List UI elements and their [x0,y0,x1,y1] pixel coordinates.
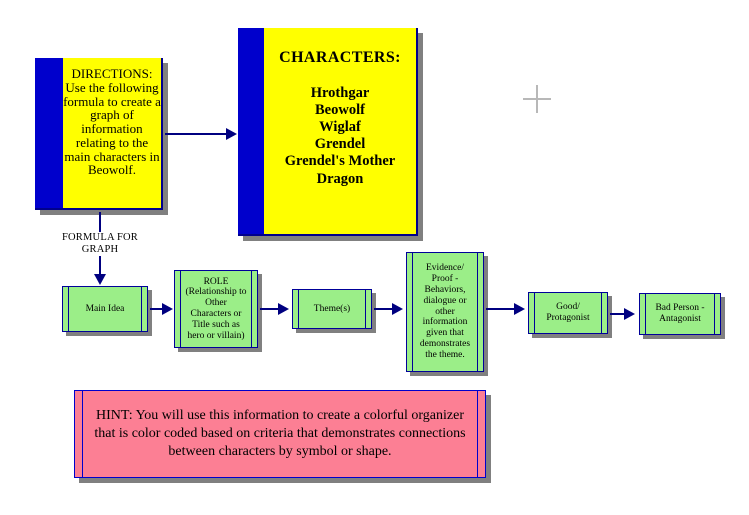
arrowhead-directions-to-main-idea [94,274,106,285]
flow-box-antagonist-label: Bad Person - Antagonist [649,303,711,325]
flow-box-main-idea[interactable]: Main Idea [62,286,148,332]
flow-box-antagonist[interactable]: Bad Person - Antagonist [639,293,721,335]
flow-box-evidence-label: Evidence/ Proof - Behaviors, dialogue or… [416,263,474,360]
character-name: Wiglaf [285,119,395,136]
arrowhead-theme-to-evidence [392,303,403,315]
flow-box-theme-label: Theme(s) [314,304,350,315]
formula-for-graph-label: FORMULA FOR GRAPH [45,232,155,256]
character-name: Hrothgar [285,85,395,102]
flow-box-protagonist[interactable]: Good/ Protagonist [528,292,608,334]
connector-theme-to-evidence [374,308,392,310]
character-name: Beowolf [285,102,395,119]
directions-blue-accent-bar [35,58,63,208]
hint-text: HINT: You will use this information to c… [89,407,471,462]
characters-title: CHARACTERS: [279,50,401,67]
connector-role-to-theme [260,308,278,310]
directions-heading: DIRECTIONS: [72,67,153,81]
crosshair-cursor-icon [523,85,551,113]
flow-box-evidence[interactable]: Evidence/ Proof - Behaviors, dialogue or… [406,252,484,372]
flow-box-theme[interactable]: Theme(s) [292,289,372,329]
arrowhead-main-idea-to-role [162,303,173,315]
characters-name-list: Hrothgar Beowolf Wiglaf Grendel Grendel'… [285,85,395,188]
character-name: Grendel's Mother [285,153,395,170]
organizer-canvas: DIRECTIONS: Use the following formula to… [0,0,749,515]
flow-box-main-idea-label: Main Idea [86,304,125,315]
arrowhead-evidence-to-protagonist [514,303,525,315]
crosshair-vertical-stroke [536,85,538,113]
flow-box-role-label: ROLE (Relationship to Other Characters o… [184,277,248,342]
arrowhead-protagonist-to-antagonist [624,308,635,320]
directions-box[interactable]: DIRECTIONS: Use the following formula to… [35,58,163,210]
characters-blue-accent-bar [238,28,264,234]
flow-box-role[interactable]: ROLE (Relationship to Other Characters o… [174,270,258,348]
connector-directions-to-characters [165,133,228,135]
directions-text-area: DIRECTIONS: Use the following formula to… [63,58,161,208]
arrowhead-directions-to-characters [226,128,237,140]
connector-evidence-to-protagonist [486,308,514,310]
character-name: Dragon [285,171,395,188]
arrowhead-role-to-theme [278,303,289,315]
directions-body: Use the following formula to create a gr… [63,81,161,177]
flow-box-protagonist-label: Good/ Protagonist [538,302,598,324]
characters-box[interactable]: CHARACTERS: Hrothgar Beowolf Wiglaf Gren… [238,28,418,236]
characters-text-area: CHARACTERS: Hrothgar Beowolf Wiglaf Gren… [264,28,416,234]
character-name: Grendel [285,136,395,153]
hint-box[interactable]: HINT: You will use this information to c… [74,390,486,478]
